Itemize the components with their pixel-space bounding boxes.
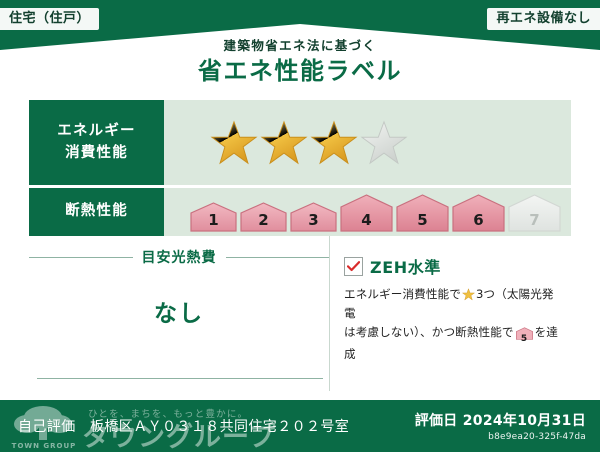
label-lower-area: 目安光熱費 なし ZEH水準 エネルギー消費性能で3つ（太陽光発電は考慮しな: [29, 236, 571, 391]
insulation-scale: 1 2 3 4: [164, 192, 561, 232]
property-name: 自己評価 板橋区ＡＹ０３１８共同住宅２０２号室: [18, 416, 349, 436]
energy-performance-label: エネルギー 消費性能: [29, 100, 164, 185]
insulation-label-text: 断熱性能: [65, 201, 128, 222]
insulation-performance-row: 断熱性能 1 2 3: [29, 188, 571, 236]
star-icon-filled-1: [210, 119, 258, 167]
evaluation-info: 評価日 2024年10月31日 b8e9ea20-325f-47da: [415, 410, 586, 442]
utility-cost-heading-text: 目安光熱費: [133, 247, 226, 267]
check-icon: [347, 261, 360, 272]
zeh-desc-part1: エネルギー消費性能で: [344, 287, 461, 301]
evaluation-id: b8e9ea20-325f-47da: [415, 432, 586, 442]
label-card: エネルギー 消費性能: [29, 100, 571, 395]
zeh-heading: ZEH水準: [344, 254, 561, 278]
utility-cost-bottom-rule: [37, 378, 323, 379]
heading-rule-right: [226, 257, 330, 258]
zeh-title: ZEH水準: [370, 254, 441, 278]
insulation-performance-label: 断熱性能: [29, 188, 164, 236]
label-footer: 自己評価 板橋区ＡＹ０３１８共同住宅２０２号室 評価日 2024年10月31日 …: [0, 400, 600, 452]
zeh-description: エネルギー消費性能で3つ（太陽光発電は考慮しない）、かつ断熱性能で5を達成: [344, 285, 561, 364]
energy-performance-row: エネルギー 消費性能: [29, 100, 571, 185]
utility-cost-section: 目安光熱費 なし: [29, 236, 329, 391]
insulation-badge-inline: 5: [516, 327, 533, 346]
badge-renewable-equipment: 再エネ設備なし: [487, 8, 600, 30]
insulation-level-2: 2: [240, 202, 287, 232]
insulation-level-7: 7: [508, 194, 561, 232]
insulation-level-4: 4: [340, 194, 393, 232]
badge-building-type: 住宅（住戸）: [0, 8, 99, 30]
energy-label-line2: 消費性能: [65, 143, 128, 164]
energy-performance-value: [164, 100, 571, 185]
insulation-level-1: 1: [190, 202, 237, 232]
energy-label-root: 住宅（住戸） 再エネ設備なし 建築物省エネ法に基づく 省エネ性能ラベル エネルギ…: [0, 0, 600, 452]
insulation-badge-inline-value: 5: [516, 335, 533, 344]
heading-rule-left: [29, 257, 133, 258]
utility-cost-value: なし: [29, 294, 329, 328]
insulation-level-3: 3: [290, 202, 337, 232]
zeh-checkbox[interactable]: [344, 257, 363, 276]
star-icon-filled-2: [260, 119, 308, 167]
star-icon-inline: [462, 288, 475, 301]
insulation-level-5: 5: [396, 194, 449, 232]
utility-cost-heading: 目安光熱費: [29, 245, 329, 269]
energy-label-line1: エネルギー: [57, 121, 136, 142]
insulation-level-3-value: 3: [290, 213, 337, 228]
star-rating: [164, 119, 408, 167]
zeh-desc-part2: は考慮しない）、かつ断熱性能で: [344, 325, 514, 339]
star-icon-empty-4: [360, 119, 408, 167]
insulation-level-1-value: 1: [190, 213, 237, 228]
insulation-level-2-value: 2: [240, 213, 287, 228]
insulation-level-5-value: 5: [396, 213, 449, 228]
star-icon-filled-3: [310, 119, 358, 167]
insulation-level-4-value: 4: [340, 213, 393, 228]
zeh-section: ZEH水準 エネルギー消費性能で3つ（太陽光発電は考慮しない）、かつ断熱性能で5…: [329, 236, 571, 391]
insulation-level-6-value: 6: [452, 213, 505, 228]
insulation-performance-value: 1 2 3 4: [164, 188, 571, 236]
evaluation-date: 評価日 2024年10月31日: [415, 410, 586, 430]
insulation-level-6: 6: [452, 194, 505, 232]
insulation-level-7-value: 7: [508, 213, 561, 228]
